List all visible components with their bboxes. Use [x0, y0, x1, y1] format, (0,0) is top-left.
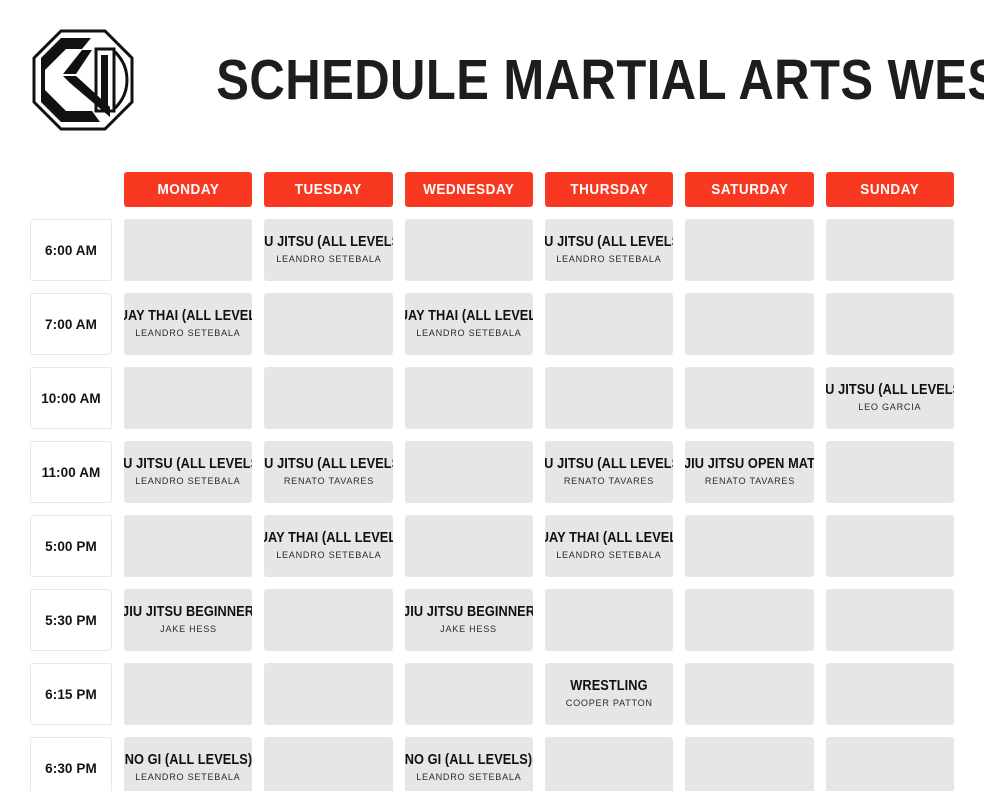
class-title: MUAY THAI (ALL LEVELS) [124, 309, 252, 324]
time-slot-label: 11:00 AM [42, 465, 101, 480]
schedule-row: 6:00 AMJIU JITSU (ALL LEVELS)LEANDRO SET… [30, 219, 954, 281]
time-slot-label: 5:30 PM [45, 613, 97, 628]
page-title: SCHEDULE MARTIAL ARTS WEST [216, 52, 984, 109]
time-slot-cell: 6:00 AM [30, 219, 112, 281]
day-cell-wrap [405, 663, 533, 725]
class-instructor: LEANDRO SETEBALA [416, 772, 521, 783]
day-cell-wrap: MUAY THAI (ALL LEVELS)LEANDRO SETEBALA [264, 515, 392, 577]
class-title: JIU JITSU BEGINNER [124, 605, 252, 620]
day-cell-wrap [545, 367, 673, 429]
class-instructor: LEANDRO SETEBALA [136, 476, 241, 487]
empty-slot-cell [826, 515, 954, 577]
class-title: JIU JITSU (ALL LEVELS) [264, 235, 392, 250]
time-column: 6:30 PM [30, 737, 112, 791]
day-cell-wrap [405, 515, 533, 577]
day-header-monday[interactable]: MONDAY [124, 172, 252, 207]
octagon-kd-monogram-logo-icon [30, 27, 136, 133]
time-column: 6:15 PM [30, 663, 112, 725]
class-session-cell[interactable]: JIU JITSU BEGINNERJAKE HESS [405, 589, 533, 651]
class-session-cell[interactable]: MUAY THAI (ALL LEVELS)LEANDRO SETEBALA [264, 515, 392, 577]
time-slot-label: 6:15 PM [45, 687, 97, 702]
time-slot-cell: 6:15 PM [30, 663, 112, 725]
day-header-label: MONDAY [157, 181, 219, 198]
day-cell-wrap [685, 663, 813, 725]
day-column-sunday: SUNDAY [826, 172, 954, 207]
day-header-label: SATURDAY [711, 181, 788, 198]
day-cell-wrap [545, 737, 673, 791]
day-cell-wrap [685, 737, 813, 791]
day-cell-wrap: JIU JITSU (ALL LEVELS)LEO GARCIA [826, 367, 954, 429]
day-cell-wrap [405, 367, 533, 429]
empty-slot-cell [545, 367, 673, 429]
empty-slot-cell [405, 367, 533, 429]
class-title: JIU JITSU (ALL LEVELS) [545, 457, 673, 472]
day-header-tuesday[interactable]: TUESDAY [264, 172, 392, 207]
empty-slot-cell [405, 441, 533, 503]
empty-slot-cell [264, 293, 392, 355]
day-cell-wrap [685, 293, 813, 355]
day-header-label: WEDNESDAY [423, 181, 514, 198]
time-slot-cell: 11:00 AM [30, 441, 112, 503]
day-header-label: SUNDAY [860, 181, 919, 198]
class-session-cell[interactable]: JIU JITSU (ALL LEVELS)RENATO TAVARES [264, 441, 392, 503]
day-column-wednesday: WEDNESDAY [405, 172, 533, 207]
day-cell-wrap: JIU JITSU (ALL LEVELS)RENATO TAVARES [545, 441, 673, 503]
class-instructor: LEANDRO SETEBALA [136, 328, 241, 339]
class-session-cell[interactable]: MUAY THAI (ALL LEVELS)LEANDRO SETEBALA [124, 293, 252, 355]
day-cell-wrap: JIU JITSU (ALL LEVELS)RENATO TAVARES [264, 441, 392, 503]
time-column: 7:00 AM [30, 293, 112, 355]
class-title: MUAY THAI (ALL LEVELS) [545, 531, 673, 546]
class-session-cell[interactable]: WRESTLINGCOOPER PATTON [545, 663, 673, 725]
schedule-row: 6:15 PMWRESTLINGCOOPER PATTON [30, 663, 954, 725]
class-session-cell[interactable]: MUAY THAI (ALL LEVELS)LEANDRO SETEBALA [545, 515, 673, 577]
class-instructor: RENATO TAVARES [564, 476, 654, 487]
day-cell-wrap [545, 293, 673, 355]
empty-slot-cell [405, 219, 533, 281]
empty-slot-cell [405, 663, 533, 725]
time-slot-cell: 10:00 AM [30, 367, 112, 429]
empty-slot-cell [826, 293, 954, 355]
schedule-row: 11:00 AMJIU JITSU (ALL LEVELS)LEANDRO SE… [30, 441, 954, 503]
class-session-cell[interactable]: NO GI (ALL LEVELS)LEANDRO SETEBALA [405, 737, 533, 791]
class-instructor: LEANDRO SETEBALA [276, 254, 381, 265]
schedule-page: SCHEDULE MARTIAL ARTS WEST MONDAY TUESDA… [0, 0, 984, 791]
day-cell-wrap [826, 441, 954, 503]
empty-slot-cell [685, 219, 813, 281]
day-cell-wrap [264, 737, 392, 791]
day-header-label: TUESDAY [295, 181, 362, 198]
day-header-sunday[interactable]: SUNDAY [826, 172, 954, 207]
day-column-monday: MONDAY [124, 172, 252, 207]
day-cell-wrap: JIU JITSU (ALL LEVELS)LEANDRO SETEBALA [124, 441, 252, 503]
class-session-cell[interactable]: JIU JITSU (ALL LEVELS)RENATO TAVARES [545, 441, 673, 503]
empty-slot-cell [405, 515, 533, 577]
day-column-saturday: SATURDAY [685, 172, 813, 207]
schedule-row: 5:30 PMJIU JITSU BEGINNERJAKE HESSJIU JI… [30, 589, 954, 651]
day-cell-wrap [264, 663, 392, 725]
day-cell-wrap [826, 219, 954, 281]
time-slot-cell: 5:00 PM [30, 515, 112, 577]
day-header-saturday[interactable]: SATURDAY [685, 172, 813, 207]
day-cell-wrap: JIU JITSU OPEN MATRENATO TAVARES [685, 441, 813, 503]
day-cell-wrap: JIU JITSU BEGINNERJAKE HESS [405, 589, 533, 651]
empty-slot-cell [826, 737, 954, 791]
day-cell-wrap [826, 293, 954, 355]
empty-slot-cell [124, 515, 252, 577]
empty-slot-cell [264, 589, 392, 651]
empty-slot-cell [545, 589, 673, 651]
time-slot-cell: 7:00 AM [30, 293, 112, 355]
class-title: JIU JITSU (ALL LEVELS) [264, 457, 392, 472]
class-instructor: JAKE HESS [440, 624, 497, 635]
empty-slot-cell [685, 293, 813, 355]
empty-slot-cell [124, 663, 252, 725]
class-instructor: LEANDRO SETEBALA [416, 328, 521, 339]
day-cell-wrap [264, 293, 392, 355]
class-session-cell[interactable]: JIU JITSU BEGINNERJAKE HESS [124, 589, 252, 651]
day-cell-wrap [685, 367, 813, 429]
day-cell-wrap [685, 589, 813, 651]
class-session-cell[interactable]: JIU JITSU (ALL LEVELS)LEANDRO SETEBALA [264, 219, 392, 281]
class-title: JIU JITSU (ALL LEVELS) [124, 457, 252, 472]
empty-slot-cell [264, 663, 392, 725]
page-header: SCHEDULE MARTIAL ARTS WEST [0, 0, 984, 160]
empty-slot-cell [685, 589, 813, 651]
empty-slot-cell [545, 293, 673, 355]
class-title: JIU JITSU BEGINNER [405, 605, 533, 620]
day-header-label: THURSDAY [570, 181, 648, 198]
schedule-header-row: MONDAY TUESDAY WEDNESDAY THURSDAY [30, 172, 954, 207]
day-cell-wrap [826, 589, 954, 651]
day-cell-wrap [124, 219, 252, 281]
empty-slot-cell [264, 367, 392, 429]
class-title: JIU JITSU (ALL LEVELS) [826, 383, 954, 398]
schedule-grid: MONDAY TUESDAY WEDNESDAY THURSDAY [30, 172, 954, 791]
empty-slot-cell [685, 737, 813, 791]
time-column: 5:30 PM [30, 589, 112, 651]
empty-slot-cell [264, 737, 392, 791]
time-column: 5:00 PM [30, 515, 112, 577]
day-cell-wrap [826, 663, 954, 725]
class-session-cell[interactable]: JIU JITSU (ALL LEVELS)LEANDRO SETEBALA [545, 219, 673, 281]
time-column: 10:00 AM [30, 367, 112, 429]
class-title: WRESTLING [570, 679, 647, 694]
schedule-row: 7:00 AMMUAY THAI (ALL LEVELS)LEANDRO SET… [30, 293, 954, 355]
class-instructor: LEANDRO SETEBALA [136, 772, 241, 783]
day-cell-wrap [826, 515, 954, 577]
day-cell-wrap: WRESTLINGCOOPER PATTON [545, 663, 673, 725]
class-instructor: JAKE HESS [160, 624, 217, 635]
class-session-cell[interactable]: MUAY THAI (ALL LEVELS)LEANDRO SETEBALA [405, 293, 533, 355]
class-instructor: COOPER PATTON [566, 698, 653, 709]
day-cell-wrap: MUAY THAI (ALL LEVELS)LEANDRO SETEBALA [124, 293, 252, 355]
class-session-cell[interactable]: JIU JITSU (ALL LEVELS)LEO GARCIA [826, 367, 954, 429]
time-column: 11:00 AM [30, 441, 112, 503]
day-cell-wrap: MUAY THAI (ALL LEVELS)LEANDRO SETEBALA [405, 293, 533, 355]
class-title: JIU JITSU (ALL LEVELS) [545, 235, 673, 250]
day-column-thursday: THURSDAY [545, 172, 673, 207]
day-cell-wrap: JIU JITSU (ALL LEVELS)LEANDRO SETEBALA [264, 219, 392, 281]
schedule-row: 6:30 PMNO GI (ALL LEVELS)LEANDRO SETEBAL… [30, 737, 954, 791]
empty-slot-cell [685, 663, 813, 725]
day-cell-wrap [685, 219, 813, 281]
class-session-cell[interactable]: NO GI (ALL LEVELS)LEANDRO SETEBALA [124, 737, 252, 791]
day-cell-wrap [545, 589, 673, 651]
brand-logo [0, 0, 150, 160]
day-cell-wrap [685, 515, 813, 577]
time-slot-cell: 6:30 PM [30, 737, 112, 791]
day-header-thursday[interactable]: THURSDAY [545, 172, 673, 207]
schedule-row: 10:00 AMJIU JITSU (ALL LEVELS)LEO GARCIA [30, 367, 954, 429]
empty-slot-cell [826, 589, 954, 651]
empty-slot-cell [124, 219, 252, 281]
day-cell-wrap [405, 441, 533, 503]
day-cell-wrap [124, 663, 252, 725]
class-instructor: LEANDRO SETEBALA [557, 254, 662, 265]
empty-slot-cell [826, 219, 954, 281]
empty-slot-cell [685, 367, 813, 429]
time-slot-label: 5:00 PM [45, 539, 97, 554]
time-slot-cell: 5:30 PM [30, 589, 112, 651]
day-cell-wrap: NO GI (ALL LEVELS)LEANDRO SETEBALA [124, 737, 252, 791]
class-title: NO GI (ALL LEVELS) [405, 753, 533, 768]
day-cell-wrap: MUAY THAI (ALL LEVELS)LEANDRO SETEBALA [545, 515, 673, 577]
class-session-cell[interactable]: JIU JITSU (ALL LEVELS)LEANDRO SETEBALA [124, 441, 252, 503]
class-session-cell[interactable]: JIU JITSU OPEN MATRENATO TAVARES [685, 441, 813, 503]
time-slot-label: 10:00 AM [41, 391, 101, 406]
day-cell-wrap: JIU JITSU BEGINNERJAKE HESS [124, 589, 252, 651]
class-instructor: RENATO TAVARES [704, 476, 794, 487]
day-cell-wrap [264, 589, 392, 651]
time-column-spacer [30, 172, 112, 207]
time-slot-label: 6:30 PM [45, 761, 97, 776]
time-slot-label: 7:00 AM [45, 317, 97, 332]
day-cell-wrap [264, 367, 392, 429]
day-cell-wrap [124, 515, 252, 577]
empty-slot-cell [545, 737, 673, 791]
schedule-body: 6:00 AMJIU JITSU (ALL LEVELS)LEANDRO SET… [30, 219, 954, 791]
class-instructor: RENATO TAVARES [283, 476, 373, 487]
empty-slot-cell [826, 663, 954, 725]
schedule-row: 5:00 PMMUAY THAI (ALL LEVELS)LEANDRO SET… [30, 515, 954, 577]
empty-slot-cell [685, 515, 813, 577]
day-header-wednesday[interactable]: WEDNESDAY [405, 172, 533, 207]
time-slot-label: 6:00 AM [45, 243, 97, 258]
class-instructor: LEANDRO SETEBALA [557, 550, 662, 561]
day-cell-wrap: JIU JITSU (ALL LEVELS)LEANDRO SETEBALA [545, 219, 673, 281]
class-instructor: LEO GARCIA [858, 402, 921, 413]
day-cell-wrap: NO GI (ALL LEVELS)LEANDRO SETEBALA [405, 737, 533, 791]
class-title: JIU JITSU OPEN MAT [685, 457, 813, 472]
class-title: MUAY THAI (ALL LEVELS) [405, 309, 533, 324]
class-instructor: LEANDRO SETEBALA [276, 550, 381, 561]
time-column: 6:00 AM [30, 219, 112, 281]
day-cell-wrap [826, 737, 954, 791]
day-cell-wrap [405, 219, 533, 281]
empty-slot-cell [124, 367, 252, 429]
class-title: NO GI (ALL LEVELS) [124, 753, 252, 768]
page-title-wrap: SCHEDULE MARTIAL ARTS WEST [150, 0, 984, 160]
day-cell-wrap [124, 367, 252, 429]
empty-slot-cell [826, 441, 954, 503]
class-title: MUAY THAI (ALL LEVELS) [264, 531, 392, 546]
day-column-tuesday: TUESDAY [264, 172, 392, 207]
